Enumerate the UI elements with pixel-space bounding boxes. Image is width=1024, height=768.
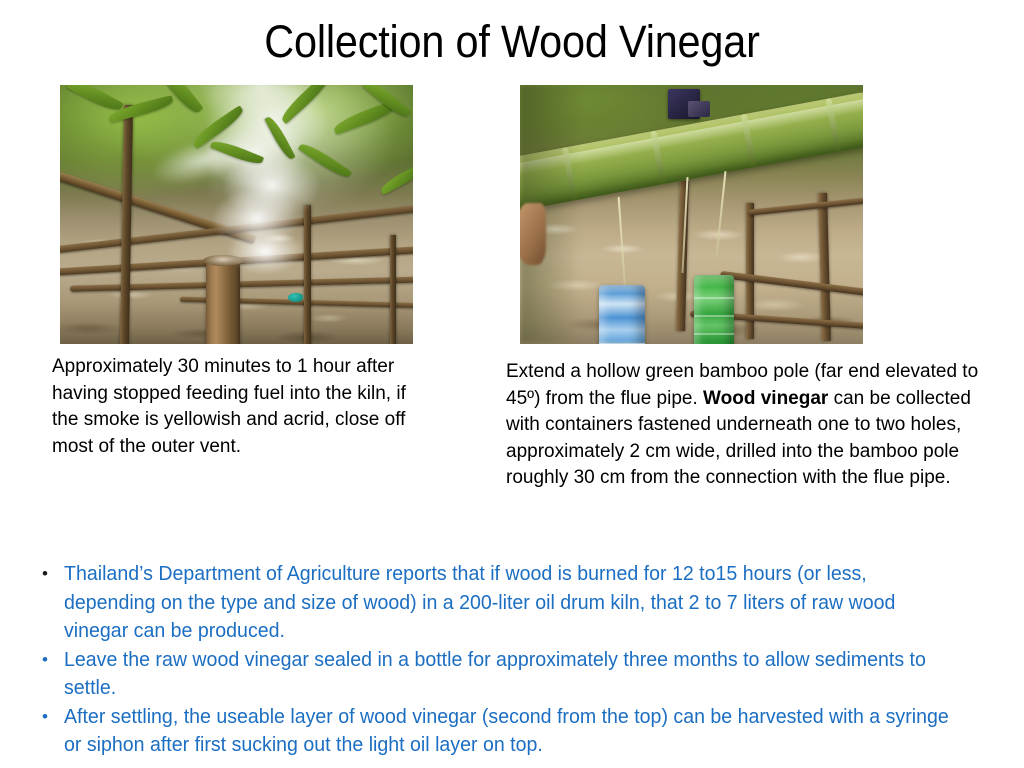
- person-arm: [520, 203, 546, 265]
- bullet-text: After settling, the useable layer of woo…: [64, 703, 960, 760]
- bullet-marker-icon: •: [42, 703, 64, 732]
- bottle-rib: [694, 315, 734, 317]
- bullet-marker-icon: •: [42, 560, 64, 589]
- green-collection-bottle: [694, 275, 734, 344]
- figure-left-kiln-smoke: [60, 85, 413, 344]
- bullet-marker-icon: •: [42, 646, 64, 675]
- list-item: • Thailand’s Department of Agriculture r…: [42, 560, 1002, 646]
- bottle-band: [599, 343, 645, 344]
- bullet-list: • Thailand’s Department of Agriculture r…: [42, 560, 1002, 760]
- blue-collection-bottle: [599, 285, 645, 344]
- caption-left: Approximately 30 minutes to 1 hour after…: [52, 354, 422, 460]
- figure-right-bamboo-collector: [520, 85, 863, 344]
- caption-right-bold-term: Wood vinegar: [703, 388, 828, 409]
- bullet-text: Leave the raw wood vinegar sealed in a b…: [64, 646, 960, 703]
- caption-right: Extend a hollow green bamboo pole (far e…: [506, 359, 1006, 492]
- bullet-text: Thailand’s Department of Agriculture rep…: [64, 560, 960, 646]
- list-item: • Leave the raw wood vinegar sealed in a…: [42, 646, 1002, 703]
- slide-canvas: { "slide": { "title": "Collection of Woo…: [0, 0, 1024, 768]
- dark-object-background: [688, 101, 710, 117]
- page-title: Collection of Wood Vinegar: [41, 16, 983, 68]
- list-item: • After settling, the useable layer of w…: [42, 703, 1002, 760]
- bottle-rib: [694, 297, 734, 299]
- bottle-rib: [694, 333, 734, 335]
- teal-object-on-ground: [288, 293, 303, 302]
